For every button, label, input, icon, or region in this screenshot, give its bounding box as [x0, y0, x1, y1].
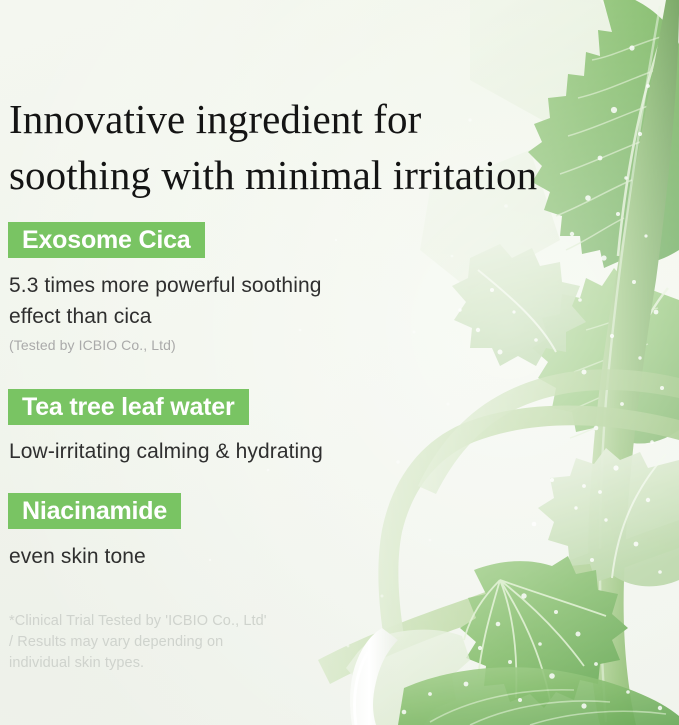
ingredient-badge-niacinamide: Niacinamide [8, 493, 181, 529]
ingredient-description-tea-tree-leaf-water: Low-irritating calming & hydrating [9, 436, 429, 467]
ingredient-badge-exosome-cica: Exosome Cica [8, 222, 205, 258]
ingredient-description-niacinamide: even skin tone [9, 541, 429, 572]
clinical-trial-disclaimer: *Clinical Trial Tested by 'ICBIO Co., Lt… [9, 611, 339, 674]
product-ingredient-poster: Innovative ingredient for soothing with … [0, 0, 679, 725]
ingredient-badge-tea-tree-leaf-water: Tea tree leaf water [8, 389, 249, 425]
ingredient-description-exosome-cica: 5.3 times more powerful soothing effect … [9, 270, 429, 332]
ingredient-subnote-exosome-cica: (Tested by ICBIO Co., Ltd) [9, 336, 176, 355]
poster-content: Innovative ingredient for soothing with … [0, 0, 679, 725]
page-title: Innovative ingredient for soothing with … [9, 91, 649, 203]
